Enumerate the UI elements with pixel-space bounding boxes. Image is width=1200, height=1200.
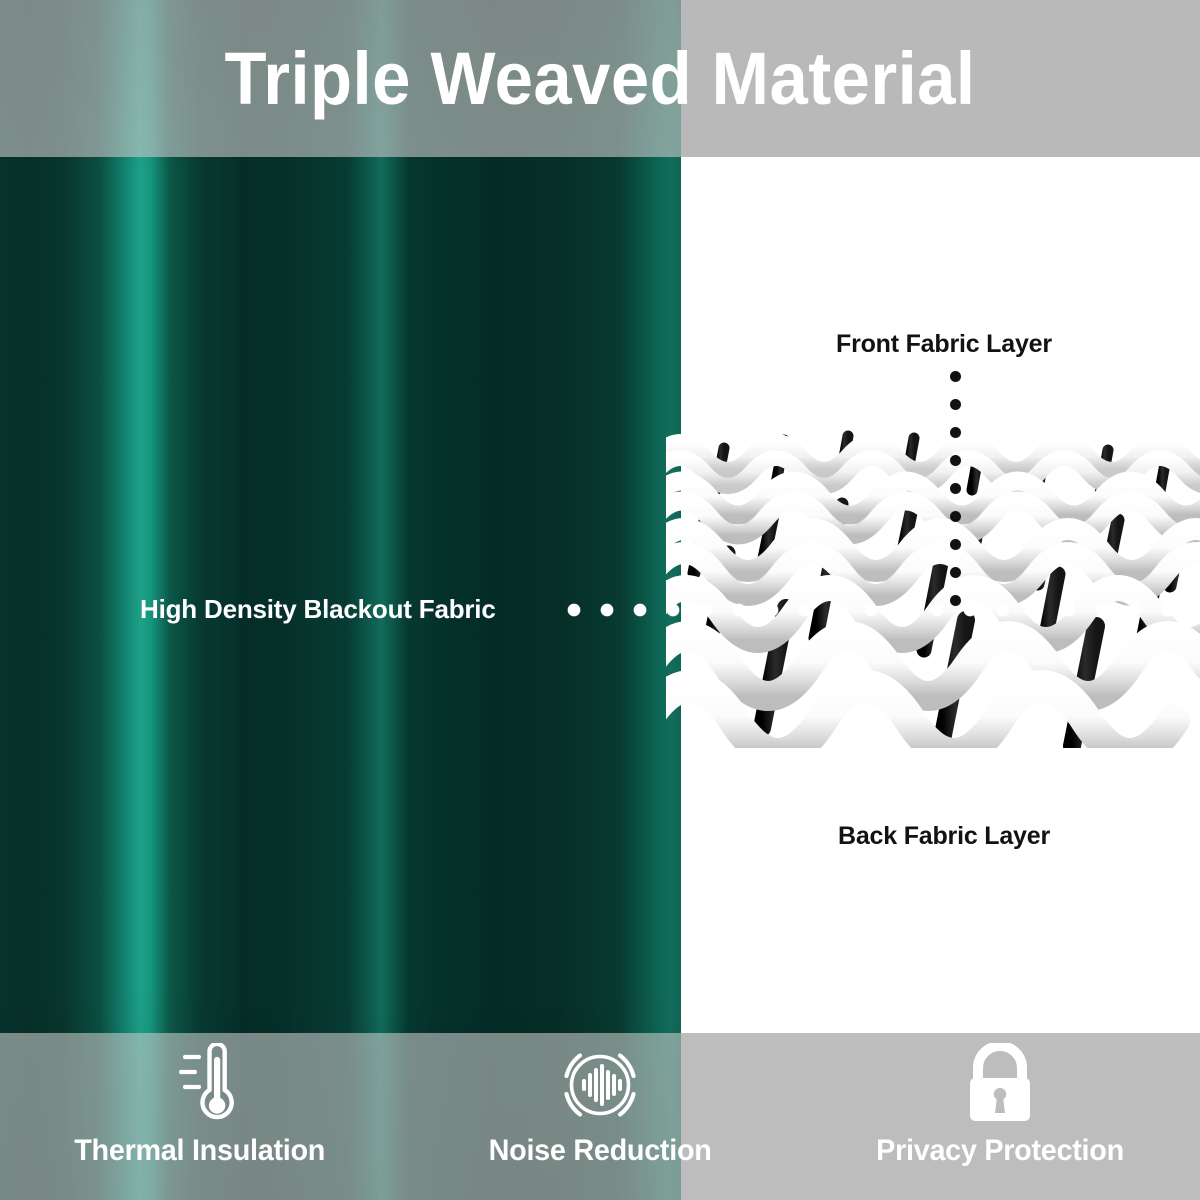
feature-thermal-insulation: Thermal Insulation — [0, 1033, 400, 1200]
feature-label-thermal-insulation: Thermal Insulation — [75, 1134, 326, 1168]
blackout-fabric-leader-line — [566, 602, 1196, 618]
feature-label-noise-reduction: Noise Reduction — [489, 1134, 712, 1168]
front-fabric-layer-label: Front Fabric Layer — [836, 332, 1052, 357]
page-title: Triple Weaved Material — [42, 0, 1158, 157]
feature-bar: Thermal Insulation — [0, 1033, 1200, 1200]
feature-privacy-protection: Privacy Protection — [800, 1033, 1200, 1200]
feature-label-privacy-protection: Privacy Protection — [876, 1134, 1124, 1168]
thermometer-icon — [163, 1042, 237, 1128]
feature-noise-reduction: Noise Reduction — [400, 1033, 800, 1200]
back-fabric-layer-label: Back Fabric Layer — [838, 824, 1050, 849]
sound-wave-circle-icon — [557, 1042, 643, 1128]
front-layer-leader-line — [949, 370, 962, 622]
product-infographic: Front Fabric Layer Back Fabric Layer Hig… — [0, 0, 1200, 1200]
padlock-icon — [961, 1042, 1039, 1128]
woven-fabric-illustration — [666, 398, 1200, 748]
title-bar: Triple Weaved Material — [0, 0, 1200, 157]
feature-list: Thermal Insulation — [0, 1033, 1200, 1200]
high-density-blackout-fabric-label: High Density Blackout Fabric — [140, 596, 496, 622]
